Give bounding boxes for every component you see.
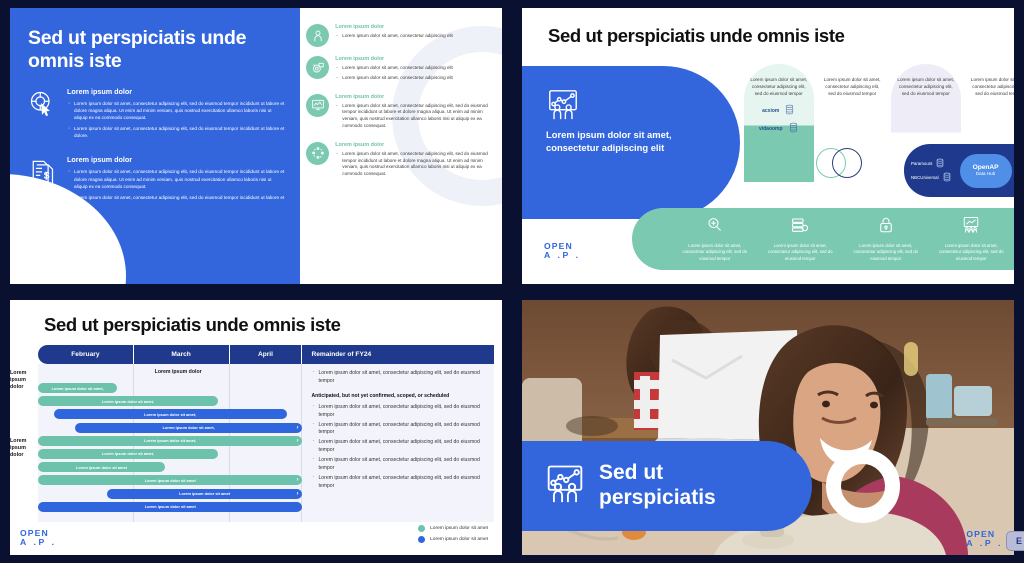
gantt-bar-label: Lorem ipsum dolor sit amet <box>145 478 196 483</box>
block-bullet: Lorem ipsum dolor sit amet, consectetur … <box>67 125 286 139</box>
hub-subname: Data Hub <box>976 171 995 176</box>
audience-graph-icon <box>546 88 714 122</box>
chevron-right-icon: › <box>296 477 298 483</box>
list-item: Lorem ipsum dolor Lorem ipsum dolor sit … <box>306 142 492 181</box>
audience-target-icon <box>306 56 329 79</box>
server-lock-icon <box>791 225 809 242</box>
band-item: Lorem ipsum dolor sit amet, consectetur … <box>929 216 1015 262</box>
list-item-heading: Lorem ipsum dolor <box>335 24 492 30</box>
gantt-bar[interactable]: Lorem ipsum dolor sit amet, <box>38 383 117 393</box>
chevron-right-icon: › <box>296 425 298 431</box>
gantt-bar-label: Lorem ipsum dolor sit amet, <box>52 386 104 391</box>
click-target-icon <box>28 87 58 143</box>
hub-partner-label: NBCUniversal <box>911 175 939 180</box>
hub-partner-label: Paramount <box>911 161 932 166</box>
slide-1-title: Sed ut perspiciatis unde omnis iste <box>28 27 286 72</box>
list-item: Lorem ipsum dolor Lorem ipsum dolor sit … <box>306 24 492 47</box>
list-bullet: Lorem ipsum dolor sit amet, consectetur … <box>335 75 492 82</box>
gantt-bar-label: Lorem ipsum dolor sit amet, <box>144 438 196 443</box>
legend-color-swatch <box>418 536 425 543</box>
block-bullet: Lorem ipsum dolor sit amet, consectetur … <box>67 168 286 189</box>
slide-4-title-line-2: perspiciatis <box>599 486 716 511</box>
slide-4[interactable]: Sed ut perspiciatis OPEN A .P . <box>522 300 1014 555</box>
note-bullet: Lorem ipsum dolor sit amet, consectetur … <box>311 439 488 454</box>
gantt-bar-label: Lorem ipsum dolor sit amet <box>145 504 196 509</box>
column-1: Lorem ipsum dolor sit amet, consectetur … <box>744 64 814 182</box>
list-bullet: Lorem ipsum dolor sit amet, consectetur … <box>335 151 492 178</box>
search-data-icon <box>706 225 724 242</box>
table-header-cell[interactable]: Remainder of FY24 <box>302 345 494 364</box>
content-block: Lorem ipsum dolor Lorem ipsum dolor sit … <box>28 155 286 211</box>
audience-graph-icon <box>544 463 586 510</box>
table-header-row: February March April Remainder of FY24 <box>38 345 494 364</box>
partner-logo-label: acxiom <box>762 108 779 114</box>
band-item-text: Lorem ipsum dolor sit amet, consectetur … <box>934 243 1010 262</box>
gantt-bar[interactable]: Lorem ipsum dolor sit amet,› <box>38 436 302 446</box>
openap-data-hub: Paramount NBCUniversal <box>904 144 1014 197</box>
block-heading: Lorem ipsum dolor <box>67 155 286 164</box>
gantt-bar-label: Lorem ipsum dolor sit amet, <box>144 412 196 417</box>
slide-4-title-pill: Sed ut perspiciatis <box>522 441 812 531</box>
gantt-bar-label: Lorem ipsum dolor sit amet <box>179 491 230 496</box>
note-bullet: Lorem ipsum dolor sit amet, consectetur … <box>311 422 488 437</box>
logo-line-1: OPEN <box>544 242 581 251</box>
slide-1-wrapper: Sed ut perspiciatis unde omnis iste Lore… <box>0 0 512 292</box>
slide-2-wrapper: Sed ut perspiciatis unde omnis iste <box>512 0 1024 292</box>
hub-partner-row: NBCUniversal <box>911 172 952 183</box>
list-bullet: Lorem ipsum dolor sit amet, consectetur … <box>335 33 492 40</box>
row-label: Lorem ipsum dolor <box>10 370 38 391</box>
slide-2-feature-band: Lorem ipsum dolor sit amet, consectetur … <box>632 208 1014 270</box>
block-bullet: Lorem ipsum dolor sit amet, consectetur … <box>67 194 286 208</box>
logo-line-1: OPEN <box>966 530 1003 539</box>
slide-1-right-panel: Lorem ipsum dolor Lorem ipsum dolor sit … <box>300 8 502 284</box>
gantt-bar[interactable]: Lorem ipsum dolor sit amet› <box>107 489 303 499</box>
note-bullet: Lorem ipsum dolor sit amet, consectetur … <box>311 404 488 419</box>
slide-1-left-panel: Sed ut perspiciatis unde omnis iste Lore… <box>10 8 300 284</box>
timeline-notes: Lorem ipsum dolor sit amet, consectetur … <box>311 370 488 490</box>
partner-logo-label: vidaoomp <box>759 126 783 132</box>
slide-4-title-line-1: Sed ut <box>599 461 716 486</box>
gantt-bar-label: Lorem ipsum dolor sit amet <box>76 465 127 470</box>
invoice-dollar-icon <box>28 155 58 211</box>
partner-logo: vidaoomp <box>744 122 814 135</box>
slide-grid: Sed ut perspiciatis unde omnis iste Lore… <box>0 0 1024 563</box>
row-label: Lorem ipsum dolor <box>10 438 38 459</box>
database-icon <box>784 104 795 117</box>
openap-logo: OPEN A .P . <box>966 530 1003 548</box>
note-bullet: Lorem ipsum dolor sit amet, consectetur … <box>311 457 488 472</box>
column-text: Lorem ipsum dolor sit amet, consectetur … <box>891 64 961 97</box>
gantt-bar-label: Lorem ipsum dolor sit amet, <box>102 451 154 456</box>
band-item: Lorem ipsum dolor sit amet, consectetur … <box>843 216 929 262</box>
legend-color-swatch <box>418 525 425 532</box>
slide-2-title: Sed ut perspiciatis unde omnis iste <box>522 8 1014 47</box>
openap-logo: OPEN A .P . <box>20 529 57 547</box>
gantt-bar[interactable]: Lorem ipsum dolor sit amet, <box>54 409 287 419</box>
legend-item: Lorem ipsum dolor sit amet <box>418 525 488 532</box>
slide-1[interactable]: Sed ut perspiciatis unde omnis iste Lore… <box>10 8 502 284</box>
hub-partner-row: Paramount <box>911 158 952 169</box>
logo-line-2: A .P . <box>20 538 57 547</box>
slide-3-wrapper: Sed ut perspiciatis unde omnis iste Febr… <box>0 292 512 563</box>
gantt-bar-label: Lorem ipsum dolor sit amet, <box>163 425 215 430</box>
partner-logo: acxiom <box>744 104 814 117</box>
decorative-ring <box>826 449 900 523</box>
audience-graph-icon <box>962 225 980 242</box>
band-item-text: Lorem ipsum dolor sit amet, consectetur … <box>763 243 839 262</box>
openap-logo: OPEN A .P . <box>29 254 66 272</box>
database-icon <box>935 158 945 169</box>
chevron-right-icon: › <box>296 438 298 444</box>
panel-text: Lorem ipsum dolor sit amet, consectetur … <box>546 129 714 154</box>
database-icon <box>942 172 952 183</box>
note-bullet: Lorem ipsum dolor sit amet, consectetur … <box>311 370 488 385</box>
band-item: Lorem ipsum dolor sit amet, consectetur … <box>672 216 758 262</box>
logo-line-1: OPEN <box>29 254 66 263</box>
column-text: Lorem ipsum dolor sit amet, consectetur … <box>818 64 888 97</box>
table-header-cell[interactable]: March <box>134 345 230 364</box>
list-item-heading: Lorem ipsum dolor <box>335 142 492 148</box>
openap-logo: OPEN A .P . <box>544 242 581 260</box>
list-item-heading: Lorem ipsum dolor <box>335 56 492 62</box>
list-bullet: Lorem ipsum dolor sit amet, consectetur … <box>335 65 492 72</box>
list-item: Lorem ipsum dolor Lorem ipsum dolor sit … <box>306 94 492 133</box>
legend-label: Lorem ipsum dolor sit amet <box>430 537 488 542</box>
block-heading: Lorem ipsum dolor <box>67 87 286 96</box>
list-item-heading: Lorem ipsum dolor <box>335 94 492 100</box>
gantt-bar[interactable]: Lorem ipsum dolor sit amet,› <box>75 423 302 433</box>
gantt-bar-label: Lorem ipsum dolor sit amet, <box>102 399 154 404</box>
gantt-bar[interactable]: Lorem ipsum dolor sit amet› <box>38 475 302 485</box>
column-text: Lorem ipsum dolor sit amet, consectetur … <box>744 64 814 97</box>
gantt-bar[interactable]: Lorem ipsum dolor sit amet <box>38 502 302 512</box>
logo-line-2: A .P . <box>544 251 581 260</box>
list-bullet: Lorem ipsum dolor sit amet, consectetur … <box>335 103 492 130</box>
logo-line-2: A .P . <box>29 263 66 272</box>
database-icon <box>788 122 799 135</box>
gantt-bars: Lorem ipsum dolor sit amet, Lorem ipsum … <box>38 364 302 522</box>
monitor-chart-icon <box>306 94 329 117</box>
table-header-cell[interactable]: April <box>230 345 303 364</box>
band-item-text: Lorem ipsum dolor sit amet, consectetur … <box>848 243 924 262</box>
edge-floating-button[interactable]: E <box>1006 531 1024 551</box>
block-bullet: Lorem ipsum dolor sit amet, consectetur … <box>67 100 286 121</box>
logo-line-1: OPEN <box>20 529 57 538</box>
content-block: Lorem ipsum dolor Lorem ipsum dolor sit … <box>28 87 286 143</box>
legend-item: Lorem ipsum dolor sit amet <box>418 536 488 543</box>
list-item: Lorem ipsum dolor Lorem ipsum dolor sit … <box>306 56 492 85</box>
hub-name: OpenAP <box>973 165 999 172</box>
note-bullet: Lorem ipsum dolor sit amet, consectetur … <box>311 475 488 490</box>
band-item-text: Lorem ipsum dolor sit amet, consectetur … <box>677 243 753 262</box>
data-hub-cloud-badge: OpenAP Data Hub <box>960 154 1012 188</box>
person-icon <box>306 24 329 47</box>
band-item: Lorem ipsum dolor sit amet, consectetur … <box>758 216 844 262</box>
table-header-cell[interactable]: February <box>38 345 134 364</box>
chart-legend: Lorem ipsum dolor sit amet Lorem ipsum d… <box>418 525 488 547</box>
table-body: Lorem ipsum dolor Lorem ipsum dolor Lore… <box>38 364 494 522</box>
timeline-table: February March April Remainder of FY24 L… <box>38 345 494 522</box>
column-text: Lorem ipsum dolor sit amet, consectetur … <box>965 64 1015 97</box>
logo-line-2: A .P . <box>966 539 1003 548</box>
padlock-icon <box>877 225 895 242</box>
gantt-bar[interactable]: Lorem ipsum dolor sit amet, <box>38 449 218 459</box>
note-heading: Anticipated, but not yet confirmed, scop… <box>311 393 488 401</box>
network-nodes-icon <box>306 142 329 165</box>
legend-label: Lorem ipsum dolor sit amet <box>430 526 488 531</box>
gantt-bar[interactable]: Lorem ipsum dolor sit amet, <box>38 396 218 406</box>
chevron-right-icon: › <box>296 491 298 497</box>
slide-3-title: Sed ut perspiciatis unde omnis iste <box>10 300 502 345</box>
slide-2-blue-panel: Lorem ipsum dolor sit amet, consectetur … <box>522 66 740 219</box>
gantt-bar[interactable]: Lorem ipsum dolor sit amet <box>38 462 165 472</box>
slide-3[interactable]: Sed ut perspiciatis unde omnis iste Febr… <box>10 300 502 555</box>
slide-2[interactable]: Sed ut perspiciatis unde omnis iste <box>522 8 1014 284</box>
slide-4-wrapper: Sed ut perspiciatis OPEN A .P . <box>512 292 1024 563</box>
